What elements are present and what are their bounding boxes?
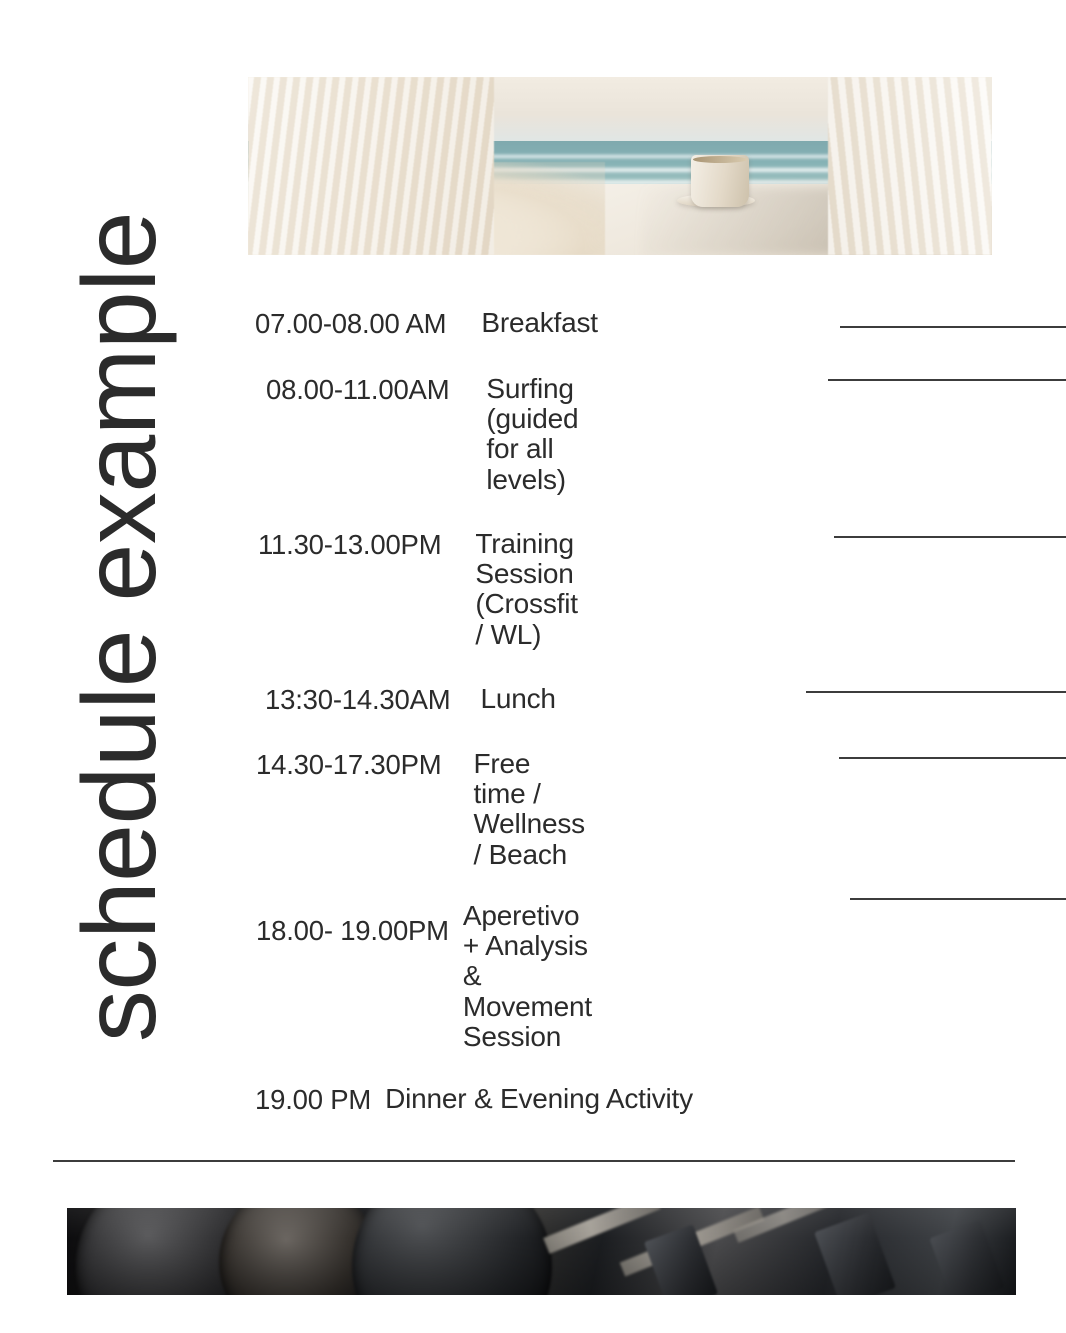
row-divider: [840, 326, 1066, 328]
row-activity: Training Session (Crossfit / WL): [475, 529, 577, 650]
table-row: 14.30-17.30PM Free time / Wellness / Bea…: [0, 716, 1066, 870]
row-activity: Surfing (guided for all levels): [486, 374, 578, 495]
gym-vignette: [67, 1208, 1016, 1295]
row-activity: Aperetivo + Analysis & Movement Session: [463, 901, 592, 1052]
footer-divider: [53, 1160, 1015, 1162]
table-row: 18.00- 19.00PM Aperetivo + Analysis & Mo…: [0, 870, 1066, 1052]
table-row: 19.00 PM Dinner & Evening Activity: [0, 1052, 1066, 1116]
row-time: 07.00-08.00 AM: [255, 308, 446, 340]
row-activity: Free time / Wellness / Beach: [473, 749, 584, 870]
schedule-poster: schedule example 07.00-08.00 AM Breakfas…: [0, 0, 1066, 1333]
row-divider: [839, 757, 1066, 759]
row-time: 08.00-11.00AM: [266, 374, 449, 406]
row-divider: [828, 379, 1066, 381]
row-time: 14.30-17.30PM: [256, 749, 441, 781]
table-row: 07.00-08.00 AM Breakfast: [0, 290, 1066, 340]
row-time: 18.00- 19.00PM: [256, 901, 449, 947]
row-divider: [834, 536, 1066, 538]
curtain-left: [248, 77, 494, 255]
row-time: 13:30-14.30AM: [265, 684, 450, 716]
curtain-right: [828, 77, 992, 255]
row-divider: [850, 898, 1066, 900]
row-time: 11.30-13.00PM: [258, 529, 441, 561]
gym-dumbbells-photo: [67, 1208, 1016, 1295]
schedule-table: 07.00-08.00 AM Breakfast 08.00-11.00AM S…: [0, 290, 1066, 1116]
table-row: 11.30-13.00PM Training Session (Crossfit…: [0, 495, 1066, 650]
row-time: 19.00 PM: [255, 1084, 371, 1116]
row-activity: Breakfast: [481, 308, 597, 338]
row-divider: [806, 691, 1066, 693]
coffee-cup: [691, 155, 749, 207]
row-activity: Dinner & Evening Activity: [385, 1084, 1066, 1114]
table-row: 08.00-11.00AM Surfing (guided for all le…: [0, 340, 1066, 495]
table-row: 13:30-14.30AM Lunch: [0, 650, 1066, 716]
row-activity: Lunch: [480, 684, 555, 714]
beach-window-coffee-photo: [248, 77, 992, 255]
